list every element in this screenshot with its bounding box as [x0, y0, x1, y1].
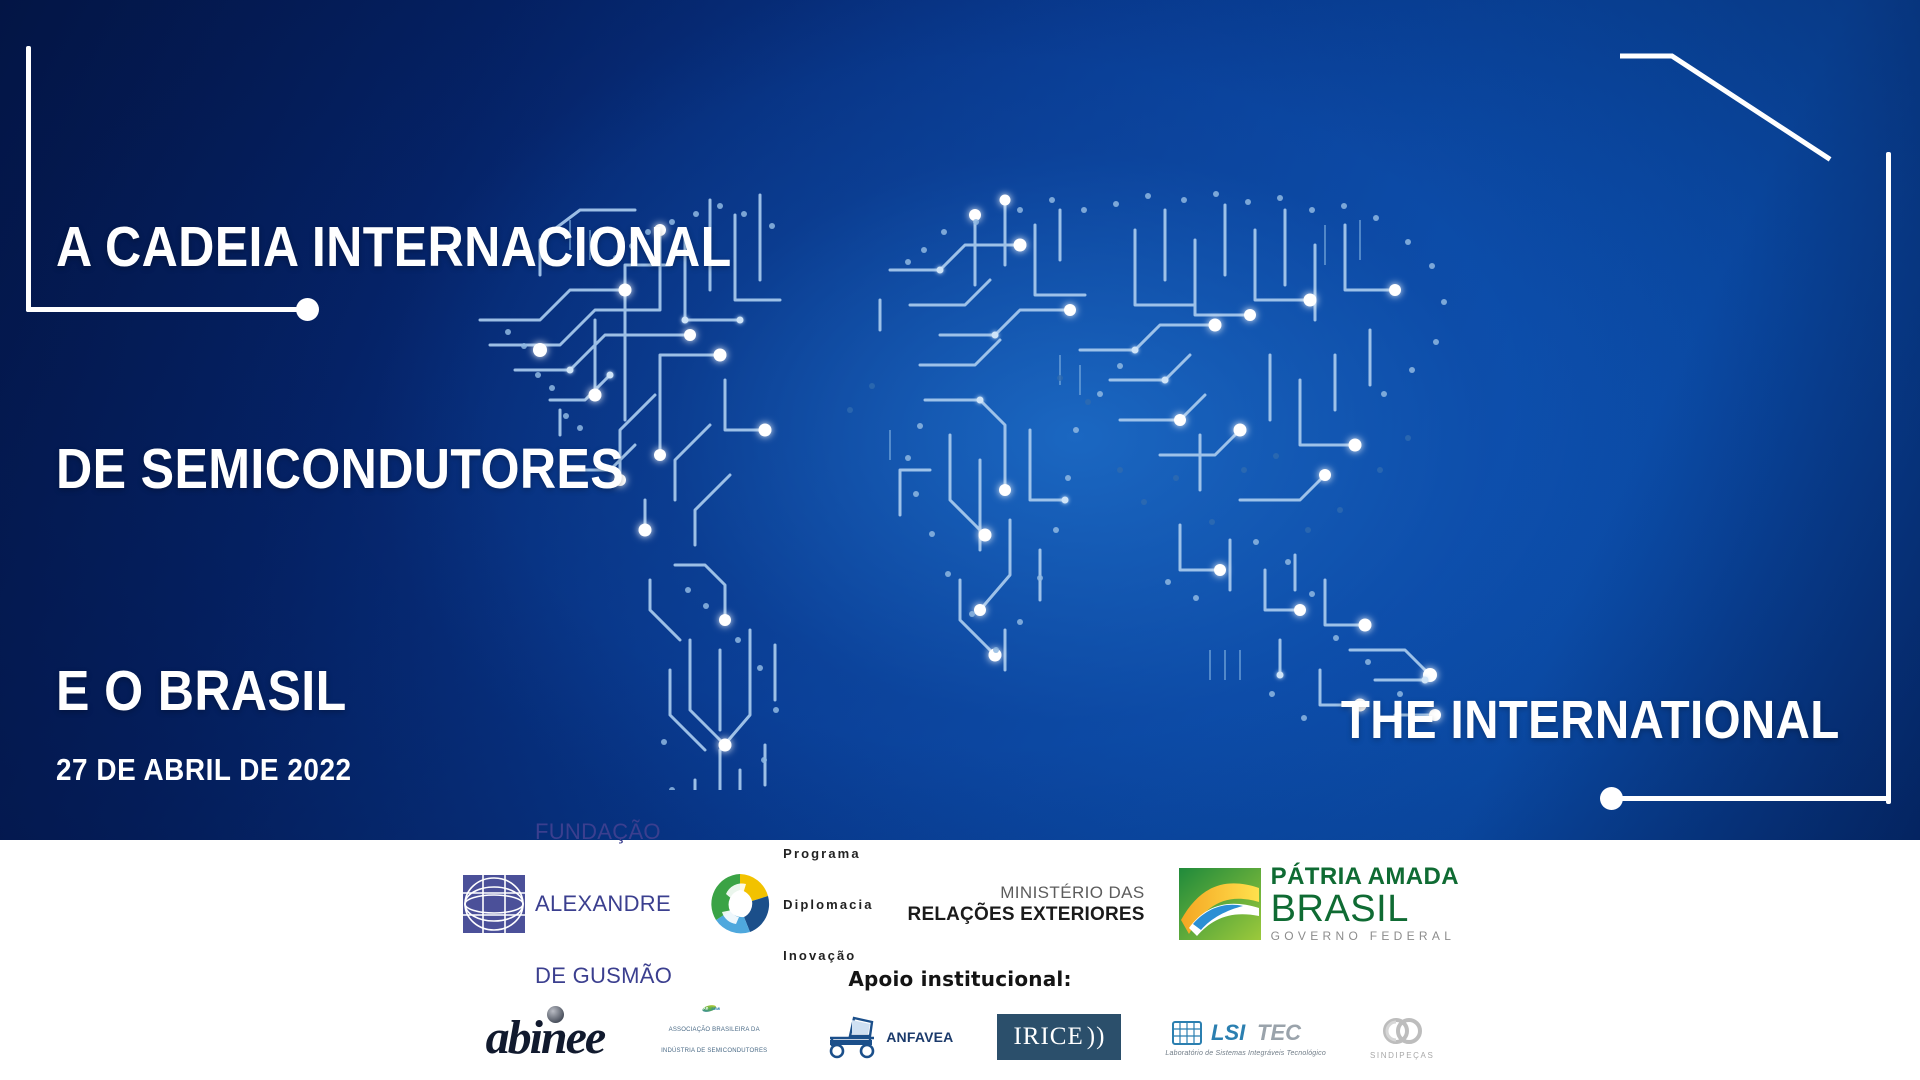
chip-grid-icon	[1170, 1018, 1204, 1048]
lsitec-subtitle: Laboratório de Sistemas Integráveis Tecn…	[1165, 1050, 1326, 1057]
page-title-en: THE INTERNATIONAL SEMICONDUCTOR CHAIN AN…	[1245, 555, 1840, 840]
sphere-dot-icon	[547, 1006, 564, 1023]
lsitec-mark: LSI TEC	[1170, 1018, 1321, 1048]
abisemi-sub-1: ASSOCIAÇÃO BRASILEIRA DA	[661, 1027, 767, 1034]
svg-text:AB: AB	[703, 1006, 709, 1011]
sindipecas-wordmark: SINDIPEÇAS	[1370, 1051, 1434, 1060]
frame-left-vertical-rule	[26, 46, 31, 312]
mre-line-1: MINISTÉRIO DAS	[908, 882, 1145, 903]
pab-line-1: PÁTRIA AMADA	[1271, 864, 1459, 890]
color-swirl-icon	[706, 870, 774, 938]
interlocking-rings-icon	[1380, 1014, 1424, 1048]
fag-line-2: ALEXANDRE	[535, 892, 672, 916]
primary-logo-row: FUNDAÇÃO ALEXANDRE DE GUSMÃO Programa	[0, 858, 1920, 950]
logo-abinee: abinee	[486, 1005, 605, 1069]
pdi-line-1: Programa	[783, 845, 873, 862]
logo-irice: IRICE ))	[997, 1005, 1121, 1069]
fag-line-1: FUNDAÇÃO	[535, 820, 672, 844]
signal-waves-icon: ))	[1087, 1023, 1106, 1051]
title-pt-line-1: A CADEIA INTERNACIONAL	[56, 210, 732, 284]
frame-right-vertical-rule	[1886, 152, 1891, 804]
brazil-flag-swoosh-icon	[1179, 868, 1261, 940]
lsitec-wordmark: LSI TEC	[1211, 1020, 1321, 1046]
logo-sindipecas: SINDIPEÇAS	[1370, 1005, 1434, 1069]
pdi-line-2: Diplomacia	[783, 896, 873, 913]
event-datetime: 27 DE ABRIL DE 2022 9-18 H	[56, 655, 352, 840]
logo-pab-text: PÁTRIA AMADA BRASIL GOVERNO FEDERAL	[1271, 864, 1459, 944]
logo-lsitec: LSI TEC Laboratório de Sistemas Integráv…	[1165, 1005, 1326, 1069]
pab-line-2: BRASIL	[1271, 890, 1459, 928]
anfavea-wordmark: ANFAVEA	[886, 1029, 953, 1045]
svg-text:TEC: TEC	[1257, 1020, 1302, 1045]
hero-banner: A CADEIA INTERNACIONAL DE SEMICONDUTORES…	[0, 0, 1920, 840]
ellipse-swoosh-icon: AB SEMI	[648, 1005, 780, 1012]
apoio-institucional-label: Apoio institucional:	[0, 967, 1920, 991]
abisemi-subtitle: ASSOCIAÇÃO BRASILEIRA DA INDÚSTRIA DE SE…	[661, 1013, 767, 1069]
abisemi-sub-2: INDÚSTRIA DE SEMICONDUTORES	[661, 1048, 767, 1055]
svg-text:SEMI: SEMI	[712, 1007, 721, 1011]
vintage-car-icon	[824, 1014, 882, 1060]
logo-anfavea: ANFAVEA	[824, 1005, 953, 1069]
svg-text:LSI: LSI	[1211, 1020, 1246, 1045]
title-en-line-1: THE INTERNATIONAL	[1245, 687, 1840, 753]
mre-line-2: RELAÇÕES EXTERIORES	[908, 903, 1145, 926]
banner-stage: A CADEIA INTERNACIONAL DE SEMICONDUTORES…	[0, 0, 1920, 1080]
logo-abisemi: AB SEMI ASSOCIAÇÃO BRASILEIRA DA INDÚSTR…	[648, 1005, 780, 1069]
abinee-wordmark: abinee	[486, 1010, 605, 1065]
logo-patria-amada-brasil: PÁTRIA AMADA BRASIL GOVERNO FEDERAL	[1179, 864, 1459, 944]
irice-badge: IRICE ))	[997, 1014, 1121, 1060]
footer-logo-strip: FUNDAÇÃO ALEXANDRE DE GUSMÃO Programa	[0, 840, 1920, 1080]
support-logo-row: abinee AB SEMI ASSOCIAÇ	[0, 1002, 1920, 1072]
logo-fundacao-text: FUNDAÇÃO ALEXANDRE DE GUSMÃO	[535, 772, 672, 1036]
logo-ministerio-relacoes-exteriores: MINISTÉRIO DAS RELAÇÕES EXTERIORES	[908, 882, 1145, 926]
irice-wordmark: IRICE	[1013, 1023, 1083, 1051]
frame-right-corner-cut	[1620, 0, 1920, 210]
globe-grid-icon	[461, 871, 527, 937]
pdi-line-3: Inovação	[783, 947, 873, 964]
title-pt-line-2: DE SEMICONDUTORES	[56, 432, 732, 506]
event-date: 27 DE ABRIL DE 2022	[56, 747, 352, 793]
pab-line-3: GOVERNO FEDERAL	[1271, 928, 1459, 944]
logo-fundacao-alexandre-de-gusmao: FUNDAÇÃO ALEXANDRE DE GUSMÃO	[461, 772, 672, 1036]
